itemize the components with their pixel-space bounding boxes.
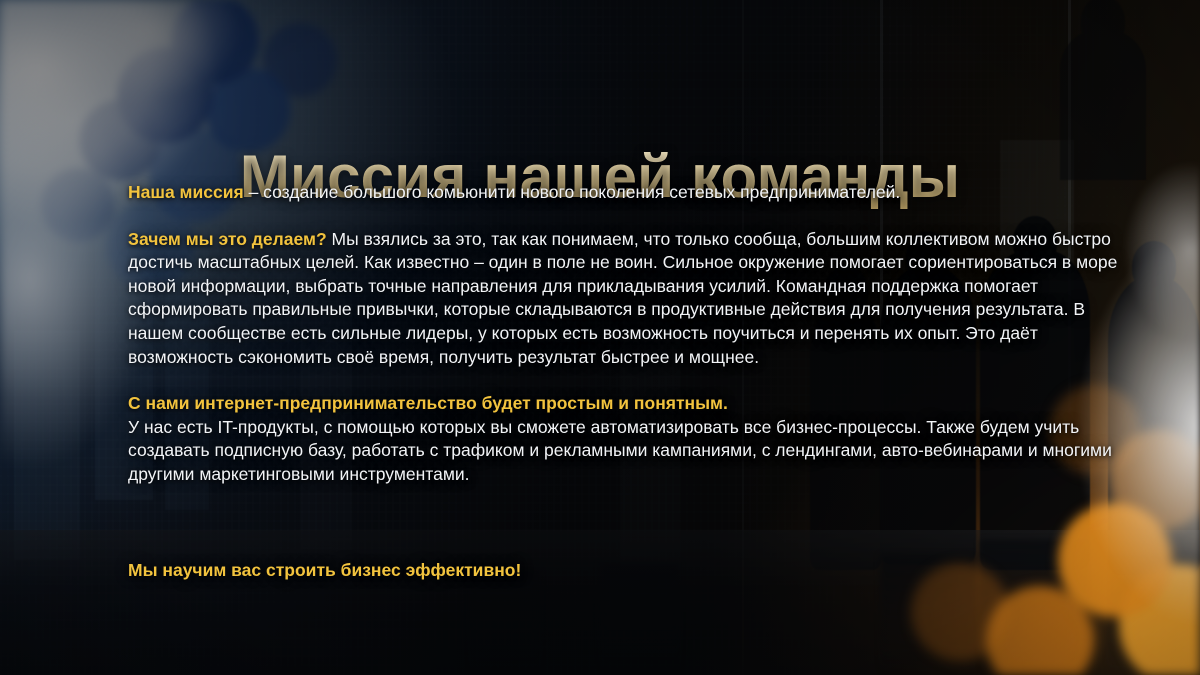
closing-statement: Мы научим вас строить бизнес эффективно!	[128, 559, 521, 583]
why-label: Зачем мы это делаем?	[128, 229, 327, 249]
presentation-slide: Миссия нашей команды Наша миссия – созда…	[0, 0, 1200, 675]
mission-paragraph: Наша миссия – создание большого комьюнит…	[128, 181, 1128, 205]
slide-content: Миссия нашей команды Наша миссия – созда…	[0, 0, 1200, 675]
why-text: Мы взялись за это, так как понимаем, что…	[128, 229, 1117, 367]
mission-text: – создание большого комьюнити нового пок…	[244, 182, 901, 202]
body-copy: Наша миссия – создание большого комьюнит…	[128, 181, 1128, 487]
offer-paragraph: С нами интернет-предпринимательство буде…	[128, 392, 1128, 486]
why-paragraph: Зачем мы это делаем? Мы взялись за это, …	[128, 228, 1128, 370]
offer-label: С нами интернет-предпринимательство буде…	[128, 392, 1128, 416]
offer-text: У нас есть IT-продукты, с помощью которы…	[128, 417, 1112, 484]
mission-label: Наша миссия	[128, 182, 244, 202]
